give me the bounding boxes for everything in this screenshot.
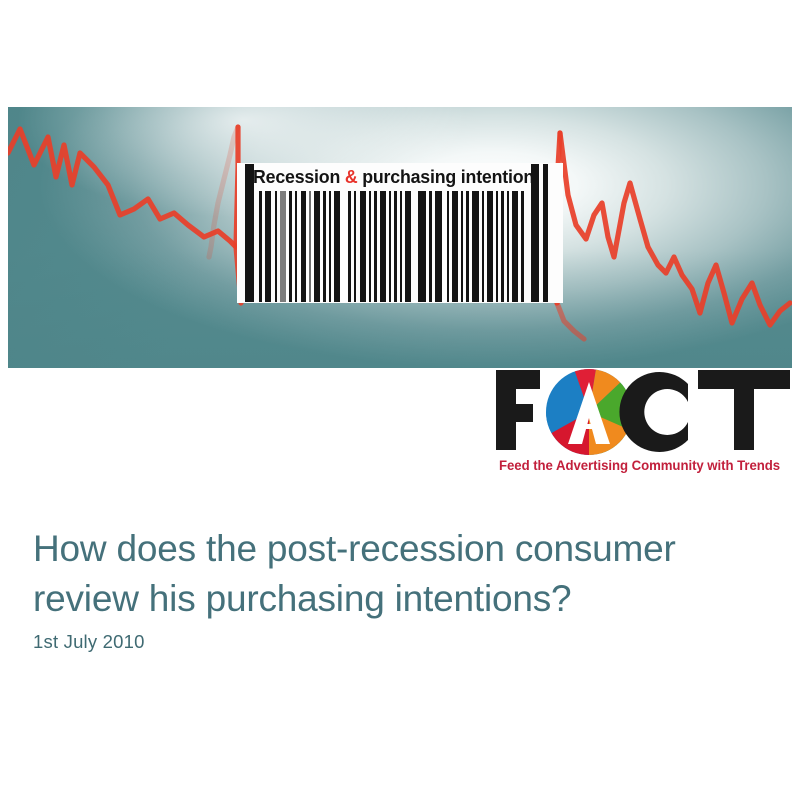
logo-letter-t [698,370,790,450]
logo-letter-f [496,370,540,450]
page-title: How does the post-recession consumer rev… [33,524,763,624]
page-date: 1st July 2010 [33,631,145,653]
fact-logo-mark [492,366,796,458]
fact-logo: Feed the Advertising Community with Tren… [492,366,796,478]
barcode-label-prefix: Recession [253,166,345,187]
slide-canvas: Recession & purchasing intention [0,0,800,800]
logo-letter-c [619,372,688,452]
fact-logo-tagline: Feed the Advertising Community with Tren… [499,458,793,473]
barcode-label-ampersand: & [345,166,358,187]
barcode-label-suffix: purchasing intention [358,166,535,187]
barcode-label: Recession & purchasing intention [253,165,529,189]
barcode-graphic: Recession & purchasing intention [237,163,563,303]
page-title-line-2: review his purchasing intentions? [33,574,763,624]
page-title-line-1: How does the post-recession consumer [33,524,763,574]
